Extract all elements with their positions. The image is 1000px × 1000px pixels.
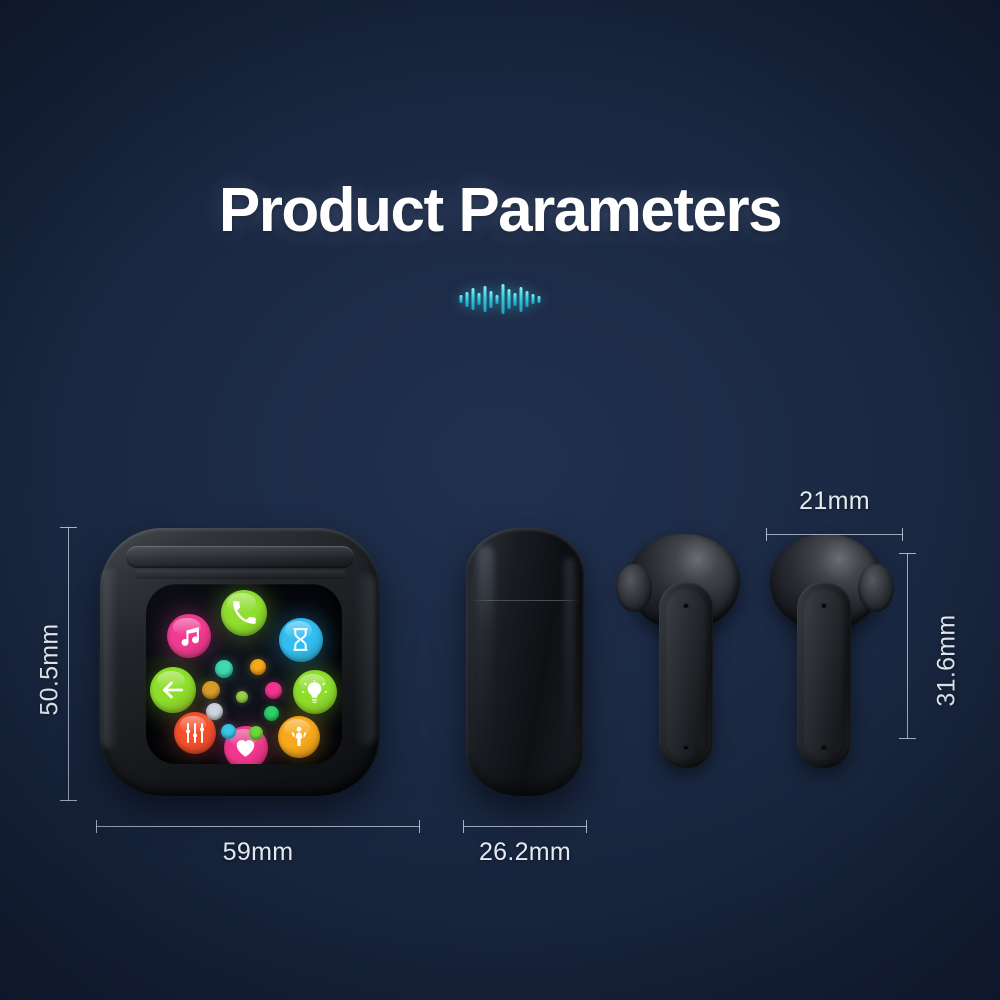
earbud-right-stem	[797, 582, 851, 768]
back-arrow-icon-glyph	[160, 677, 186, 703]
leaf-icon[interactable]	[215, 660, 233, 678]
waveform-bar-0	[460, 295, 463, 303]
waveform-bar-5	[490, 291, 493, 308]
case-side-highlight-right	[564, 558, 575, 754]
sliders-icon-glyph	[183, 721, 207, 745]
dimension-cap-left	[96, 820, 97, 833]
timer-icon[interactable]	[221, 724, 236, 739]
dimension-cap-top	[60, 527, 77, 528]
dimension-line-bud-width	[766, 534, 903, 535]
case-lid-groove	[126, 546, 354, 568]
earbud-right-tip	[858, 564, 894, 612]
earbud-left-tip	[616, 564, 652, 612]
heart-small-icon[interactable]	[265, 682, 282, 699]
dimension-cap-right	[419, 820, 420, 833]
dimension-cap-right	[902, 528, 903, 541]
dimension-cap-bottom	[60, 800, 77, 801]
audio-waveform-icon	[460, 282, 541, 316]
dimension-cap-top	[899, 553, 916, 554]
earbud-right-mic-top	[822, 604, 826, 608]
waveform-bar-6	[496, 295, 499, 304]
hourglass-icon[interactable]	[279, 618, 323, 662]
case-edge-highlight-right	[354, 574, 376, 746]
charging-case-side-view	[466, 528, 584, 796]
hourglass-icon-glyph	[288, 627, 313, 652]
waveform-bar-4	[484, 286, 487, 312]
waveform-bar-13	[538, 296, 541, 303]
figure-icon[interactable]	[278, 716, 320, 758]
dimension-cap-right	[586, 820, 587, 833]
dimension-label-bud-width: 21mm	[756, 487, 913, 516]
phone-icon-glyph	[231, 600, 257, 626]
phone-icon[interactable]	[221, 590, 267, 636]
phone-icon-gloss	[227, 593, 256, 612]
dimension-line-case-height	[68, 527, 69, 801]
earbud-left-stem-inner	[664, 587, 708, 762]
earbud-right-mic-bottom	[822, 746, 826, 750]
dimension-label-case-depth: 26.2mm	[425, 838, 625, 867]
earbud-right	[770, 534, 882, 770]
waveform-bar-3	[478, 293, 481, 305]
settings-icon[interactable]	[202, 681, 220, 699]
waveform-bar-10	[520, 287, 523, 312]
earbud-left-mic-top	[684, 604, 688, 608]
back-arrow-icon[interactable]	[150, 667, 196, 713]
earbud-left	[628, 534, 740, 770]
waveform-bar-9	[514, 293, 517, 306]
waveform-bar-7	[502, 284, 505, 314]
dimension-line-case-width	[96, 826, 420, 827]
page-title: Product Parameters	[0, 178, 1000, 243]
case-lid-seam	[469, 600, 581, 601]
dimension-label-bud-height: 31.6mm	[933, 586, 962, 736]
dimension-line-bud-height	[907, 553, 908, 739]
earbud-left-stem	[659, 582, 713, 768]
lightbulb-icon-glyph	[302, 680, 327, 705]
waveform-bar-8	[508, 289, 511, 309]
waveform-bar-1	[466, 292, 469, 307]
dimension-line-case-depth	[463, 826, 587, 827]
case-side-highlight-left	[478, 546, 494, 760]
case-lid-groove-secondary	[134, 570, 346, 579]
waveform-bar-12	[532, 294, 535, 304]
music-icon-glyph	[177, 624, 202, 649]
music-icon-gloss	[173, 618, 200, 636]
product-parameters-banner: Product Parameters 50.5mm 59mm 26.2mm	[0, 0, 1000, 1000]
case-display-screen	[146, 584, 342, 764]
flower-icon[interactable]	[206, 703, 223, 720]
earbud-right-stem-inner	[802, 587, 846, 762]
dimension-label-case-height: 50.5mm	[36, 610, 65, 730]
waveform-bar-11	[526, 291, 529, 307]
figure-icon-glyph	[287, 725, 311, 749]
dimension-cap-bottom	[899, 738, 916, 739]
dimension-cap-left	[463, 820, 464, 833]
music-icon[interactable]	[167, 614, 211, 658]
dimension-label-case-width: 59mm	[96, 838, 420, 867]
weather-icon[interactable]	[264, 706, 279, 721]
camera-icon[interactable]	[236, 691, 248, 703]
earbud-left-mic-bottom	[684, 746, 688, 750]
case-edge-highlight-left	[102, 568, 118, 748]
dimension-cap-left	[766, 528, 767, 541]
charging-case-front-view	[100, 528, 380, 796]
wireless-earbuds-pair	[628, 534, 882, 770]
waveform-bar-2	[472, 288, 475, 310]
lightbulb-icon[interactable]	[293, 670, 337, 714]
alert-icon[interactable]	[250, 659, 266, 675]
